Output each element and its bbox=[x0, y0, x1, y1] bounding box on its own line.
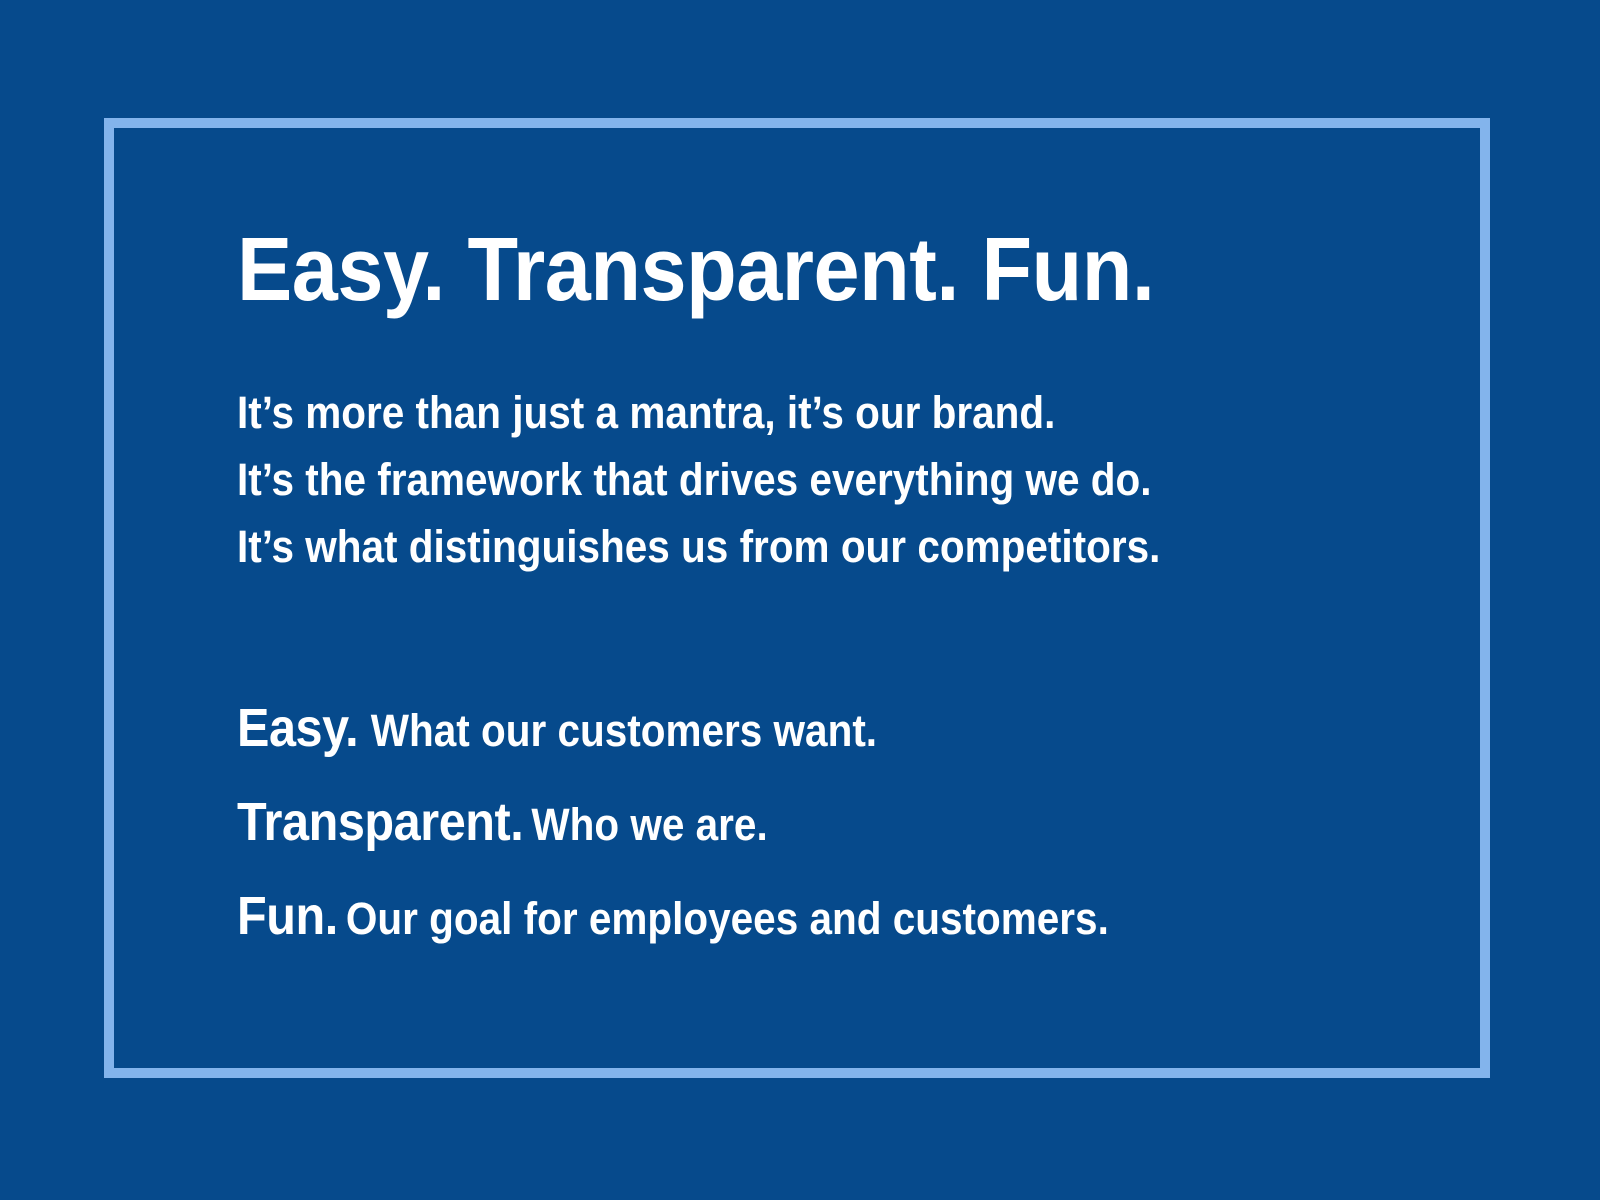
intro-paragraph: It’s more than just a mantra, it’s our b… bbox=[237, 379, 1417, 580]
pillar-label-easy: Easy. bbox=[237, 698, 358, 758]
pillar-item-transparent: Transparent.Who we are. bbox=[237, 782, 1299, 876]
intro-line: It’s the framework that drives everythin… bbox=[237, 446, 1299, 513]
pillar-item-easy: Easy.What our customers want. bbox=[237, 688, 1299, 782]
pillar-label-fun: Fun. bbox=[237, 886, 338, 946]
pillar-description-fun: Our goal for employees and customers. bbox=[338, 893, 1109, 944]
pillar-description-transparent: Who we are. bbox=[523, 799, 767, 850]
slide-content: Easy. Transparent. Fun. It’s more than j… bbox=[237, 225, 1417, 970]
slide-canvas: Easy. Transparent. Fun. It’s more than j… bbox=[0, 0, 1600, 1200]
pillar-item-fun: Fun.Our goal for employees and customers… bbox=[237, 876, 1299, 970]
pillar-list: Easy.What our customers want. Transparen… bbox=[237, 688, 1417, 970]
pillar-description-easy: What our customers want. bbox=[358, 705, 877, 756]
intro-line: It’s what distinguishes us from our comp… bbox=[237, 513, 1299, 580]
intro-line: It’s more than just a mantra, it’s our b… bbox=[237, 379, 1299, 446]
page-title: Easy. Transparent. Fun. bbox=[237, 225, 1323, 317]
pillar-label-transparent: Transparent. bbox=[237, 792, 523, 852]
